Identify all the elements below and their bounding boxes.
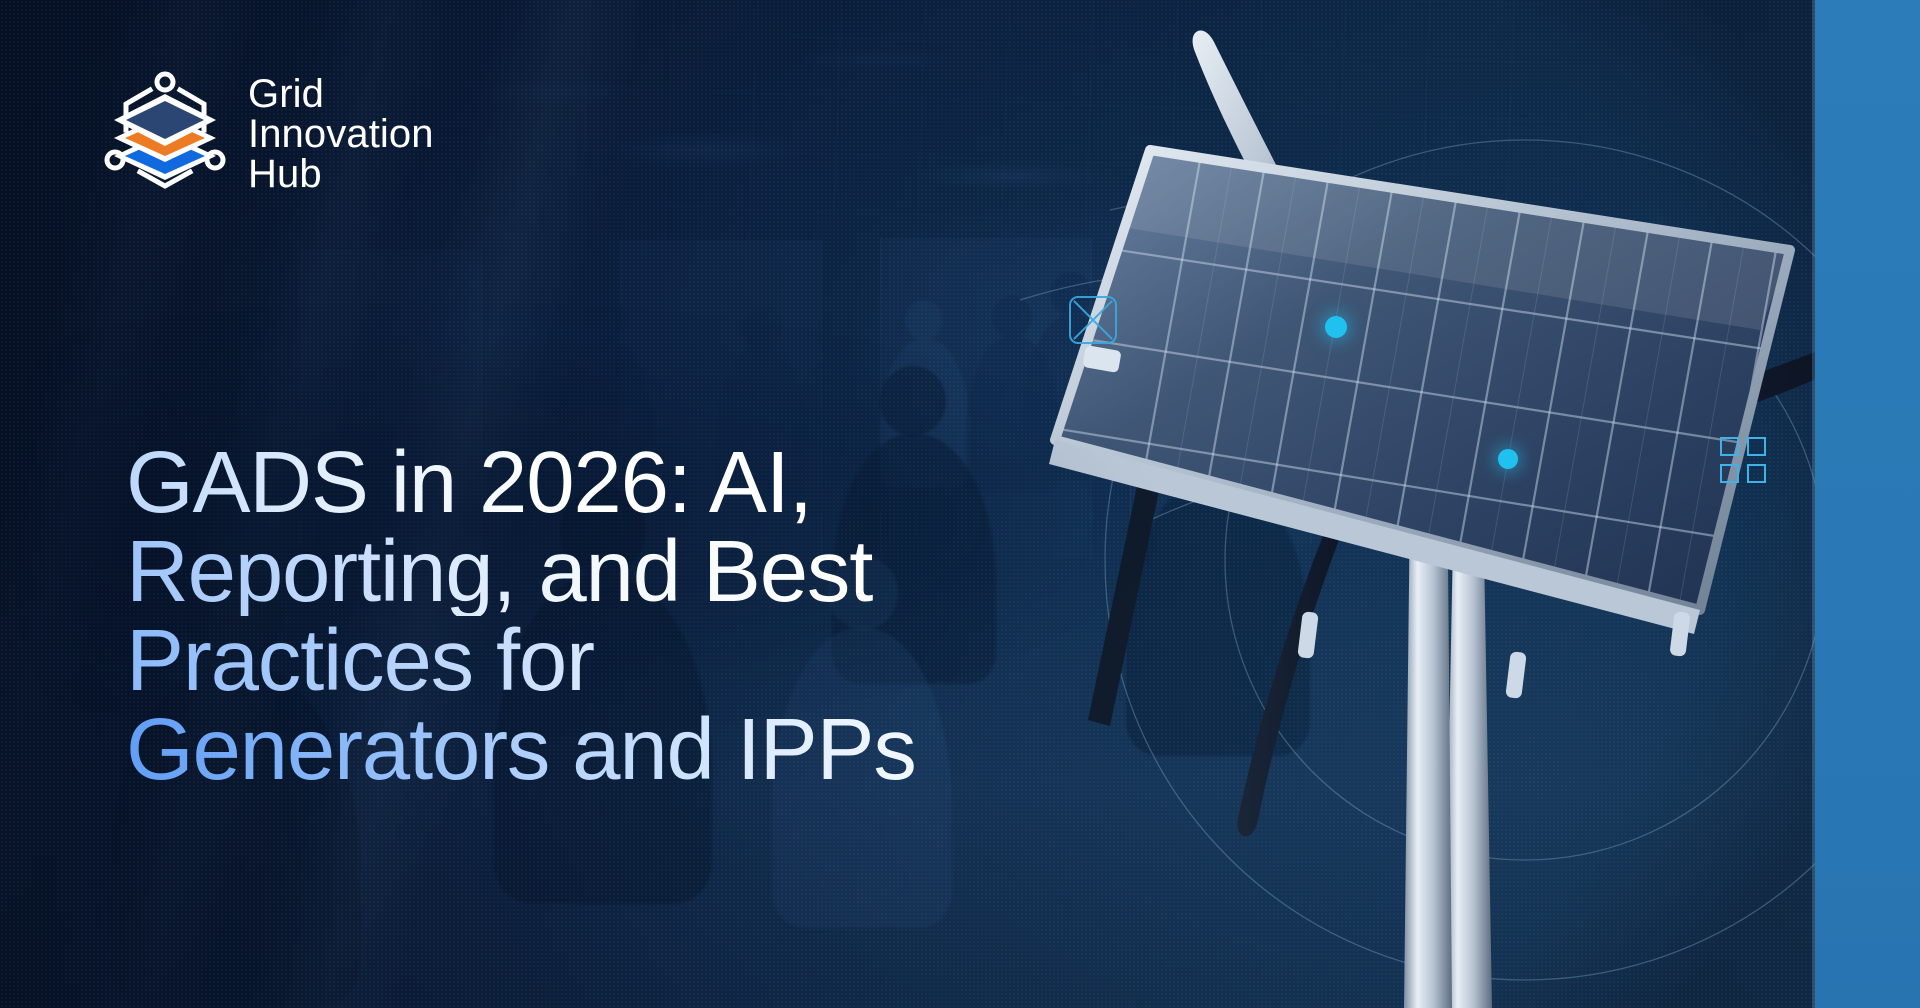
brand-line-2: Innovation bbox=[248, 114, 434, 154]
brand-line-1: Grid bbox=[248, 74, 434, 114]
headline-line-3: Practices for bbox=[126, 616, 1126, 705]
brand-logo[interactable]: Grid Innovation Hub bbox=[100, 68, 434, 198]
headline-line-4: Generators and IPPs bbox=[126, 705, 1126, 794]
stacked-layers-hexagon-logo-icon bbox=[100, 68, 230, 198]
promotional-banner: Grid Innovation Hub GADS in 2026: AI, Re… bbox=[0, 0, 1920, 1008]
four-squares-grid-icon bbox=[1720, 437, 1766, 483]
brand-line-3: Hub bbox=[248, 154, 434, 194]
page-title: GADS in 2026: AI, Reporting, and Best Pr… bbox=[126, 438, 1126, 794]
brand-wordmark: Grid Innovation Hub bbox=[248, 72, 434, 194]
right-accent-band bbox=[1815, 0, 1920, 1008]
glow-dot bbox=[1498, 449, 1518, 469]
glow-dot bbox=[1325, 316, 1347, 338]
headline-line-1: GADS in 2026: AI, bbox=[126, 438, 1126, 527]
panel-clamp bbox=[1505, 651, 1526, 699]
headline-line-2: Reporting, and Best bbox=[126, 527, 1126, 616]
